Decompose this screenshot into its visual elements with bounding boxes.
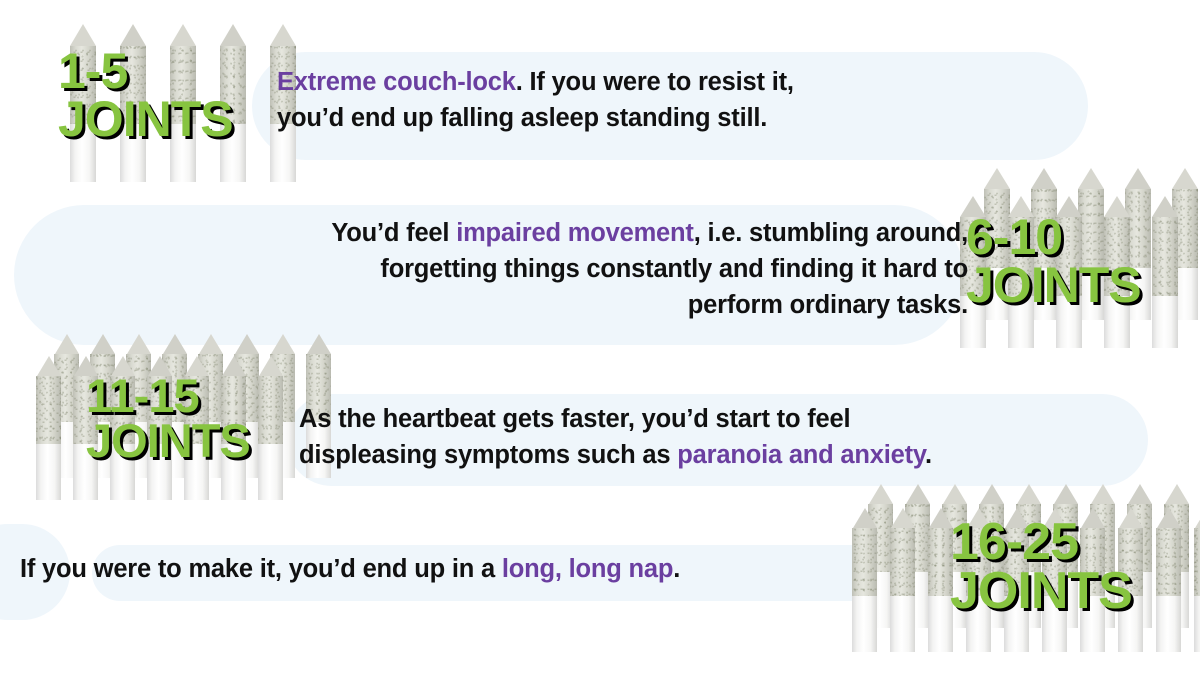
joint-icon: [221, 356, 246, 500]
joint-body: [1056, 217, 1082, 296]
paragraph-line: forgetting things constantly and finding…: [110, 251, 968, 287]
joint-icon: [928, 508, 953, 652]
joint-tip: [1157, 508, 1181, 528]
joint-body: [1004, 528, 1029, 596]
infographic-canvas: 1-5 JOINTS Extreme couch-lock. If you we…: [0, 0, 1200, 679]
joint-tip: [1152, 196, 1178, 217]
joint-tip: [967, 508, 991, 528]
joint-filter: [1008, 296, 1034, 348]
joint-filter: [221, 444, 246, 500]
paragraph-1-5: Extreme couch-lock. If you were to resis…: [277, 64, 977, 136]
joint-icon: [1118, 508, 1143, 652]
joint-tip: [270, 24, 296, 46]
joint-tip: [120, 24, 146, 46]
joint-tip: [1043, 508, 1067, 528]
joint-tip: [1165, 484, 1189, 504]
joint-icon: [184, 356, 209, 500]
joint-tip: [127, 334, 151, 354]
joint-tip: [869, 484, 893, 504]
joint-body: [1118, 528, 1143, 596]
joint-tip: [1128, 484, 1152, 504]
joint-icon: [1008, 196, 1034, 348]
paragraph-line: You’d feel impaired movement, i.e. stumb…: [110, 215, 968, 251]
joint-filter: [73, 444, 98, 500]
joint-bundle-1-5: [70, 24, 260, 186]
paragraph-text: If you were to make it, you’d end up in …: [20, 555, 502, 583]
joint-body: [1104, 217, 1130, 296]
joint-tip: [1005, 508, 1029, 528]
paragraph-line: you’d end up falling asleep standing sti…: [277, 100, 977, 136]
joint-tip: [307, 334, 331, 354]
joint-filter: [1004, 596, 1029, 652]
joint-tip: [74, 356, 98, 376]
paragraph-11-15: As the heartbeat gets faster, you’d star…: [299, 401, 1149, 473]
highlighted-phrase: impaired movement: [456, 219, 694, 247]
joint-tip: [1056, 196, 1082, 217]
joint-body: [184, 376, 209, 444]
joint-tip: [906, 484, 930, 504]
joint-filter: [220, 124, 246, 182]
joint-filter: [852, 596, 877, 652]
joint-filter: [184, 444, 209, 500]
joint-icon: [1152, 196, 1178, 348]
paragraph-line: displeasing symptoms such as paranoia an…: [299, 437, 1149, 473]
joint-body: [1008, 217, 1034, 296]
joint-tip: [199, 334, 223, 354]
joint-tip: [1078, 168, 1104, 189]
joint-tip: [111, 356, 135, 376]
paragraph-text: perform ordinary tasks.: [688, 291, 968, 319]
joint-body: [1194, 528, 1200, 596]
joint-icon: [1104, 196, 1130, 348]
joint-icon: [1004, 508, 1029, 652]
joint-tip: [235, 334, 259, 354]
joint-filter: [1118, 596, 1143, 652]
joint-bundle-11-15: [36, 334, 294, 502]
paragraph-line: If you were to make it, you’d end up in …: [20, 551, 860, 587]
joint-tip: [980, 484, 1004, 504]
joint-filter: [120, 124, 146, 182]
joint-tip: [853, 508, 877, 528]
joint-icon: [890, 508, 915, 652]
joint-body: [170, 46, 196, 124]
joint-tip: [70, 24, 96, 46]
joint-body: [258, 376, 283, 444]
joint-tip: [170, 24, 196, 46]
joint-filter: [966, 596, 991, 652]
joint-tip: [1054, 484, 1078, 504]
joint-body: [1080, 528, 1105, 596]
joint-row-back: [70, 24, 296, 182]
joint-icon: [220, 24, 246, 182]
joint-icon: [110, 356, 135, 500]
joint-filter: [1080, 596, 1105, 652]
joint-tip: [222, 356, 246, 376]
joint-icon: [147, 356, 172, 500]
joint-tip: [271, 334, 295, 354]
joint-tip: [37, 356, 61, 376]
paragraph-text: .: [673, 555, 680, 583]
joint-bundle-16-25: [852, 484, 1200, 654]
paragraph-text: forgetting things constantly and finding…: [380, 255, 968, 283]
paragraph-6-10: You’d feel impaired movement, i.e. stumb…: [110, 215, 968, 324]
joint-tip: [1119, 508, 1143, 528]
joint-tip: [943, 484, 967, 504]
joint-filter: [1104, 296, 1130, 348]
paragraph-text: displeasing symptoms such as: [299, 441, 677, 469]
joint-tip: [259, 356, 283, 376]
joint-tip: [55, 334, 79, 354]
joint-row-front: [852, 508, 1200, 652]
joint-icon: [120, 24, 146, 182]
joint-filter: [110, 444, 135, 500]
paragraph-text: You’d feel: [331, 219, 456, 247]
joint-filter: [1152, 296, 1178, 348]
joint-filter: [170, 124, 196, 182]
highlighted-phrase: long, long nap: [502, 555, 673, 583]
joint-tip: [1017, 484, 1041, 504]
joint-tip: [1125, 168, 1151, 189]
joint-body: [110, 376, 135, 444]
joint-filter: [36, 444, 61, 500]
joint-body: [147, 376, 172, 444]
joint-icon: [1194, 508, 1200, 652]
joint-icon: [966, 508, 991, 652]
joint-body: [70, 46, 96, 124]
paragraph-16-25: If you were to make it, you’d end up in …: [20, 551, 860, 587]
highlighted-phrase: paranoia and anxiety: [677, 441, 925, 469]
joint-body: [966, 528, 991, 596]
joint-filter: [890, 596, 915, 652]
joint-filter: [147, 444, 172, 500]
paragraph-line: Extreme couch-lock. If you were to resis…: [277, 64, 977, 100]
joint-icon: [36, 356, 61, 500]
joint-bundle-6-10: [960, 168, 1196, 350]
joint-icon: [70, 24, 96, 182]
joint-tip: [1172, 168, 1198, 189]
joint-filter: [1194, 596, 1200, 652]
joint-tip: [1081, 508, 1105, 528]
joint-icon: [1156, 508, 1181, 652]
joint-tip: [91, 334, 115, 354]
joint-icon: [1080, 508, 1105, 652]
paragraph-line: As the heartbeat gets faster, you’d star…: [299, 401, 1149, 437]
joint-filter: [1042, 596, 1067, 652]
joint-body: [220, 46, 246, 124]
joint-icon: [170, 24, 196, 182]
paragraph-text: . If you were to resist it,: [516, 68, 794, 96]
paragraph-text: you’d end up falling asleep standing sti…: [277, 104, 767, 132]
joint-filter: [258, 444, 283, 500]
joint-tip: [185, 356, 209, 376]
joint-icon: [258, 356, 283, 500]
joint-filter: [1156, 596, 1181, 652]
joint-body: [890, 528, 915, 596]
paragraph-line: perform ordinary tasks.: [110, 287, 968, 323]
joint-row-front: [960, 196, 1178, 348]
paragraph-text: As the heartbeat gets faster, you’d star…: [299, 405, 850, 433]
paragraph-text: , i.e. stumbling around,: [694, 219, 968, 247]
joint-filter: [928, 596, 953, 652]
joint-tip: [1031, 168, 1057, 189]
joint-tip: [960, 196, 986, 217]
joint-body: [120, 46, 146, 124]
paragraph-text: .: [925, 441, 932, 469]
joint-body: [1042, 528, 1067, 596]
joint-row-front: [36, 356, 283, 500]
joint-icon: [1056, 196, 1082, 348]
joint-filter: [70, 124, 96, 182]
joint-body: [73, 376, 98, 444]
joint-tip: [929, 508, 953, 528]
joint-icon: [73, 356, 98, 500]
joint-body: [1156, 528, 1181, 596]
joint-tip: [1008, 196, 1034, 217]
joint-tip: [984, 168, 1010, 189]
highlighted-phrase: Extreme couch-lock: [277, 68, 516, 96]
joint-body: [928, 528, 953, 596]
joint-tip: [891, 508, 915, 528]
joint-tip: [148, 356, 172, 376]
joint-body: [1152, 217, 1178, 296]
joint-body: [36, 376, 61, 444]
joint-tip: [163, 334, 187, 354]
joint-icon: [1042, 508, 1067, 652]
joint-tip: [1104, 196, 1130, 217]
joint-body: [221, 376, 246, 444]
joint-tip: [220, 24, 246, 46]
joint-tip: [1195, 508, 1200, 528]
joint-tip: [1091, 484, 1115, 504]
joint-filter: [1056, 296, 1082, 348]
